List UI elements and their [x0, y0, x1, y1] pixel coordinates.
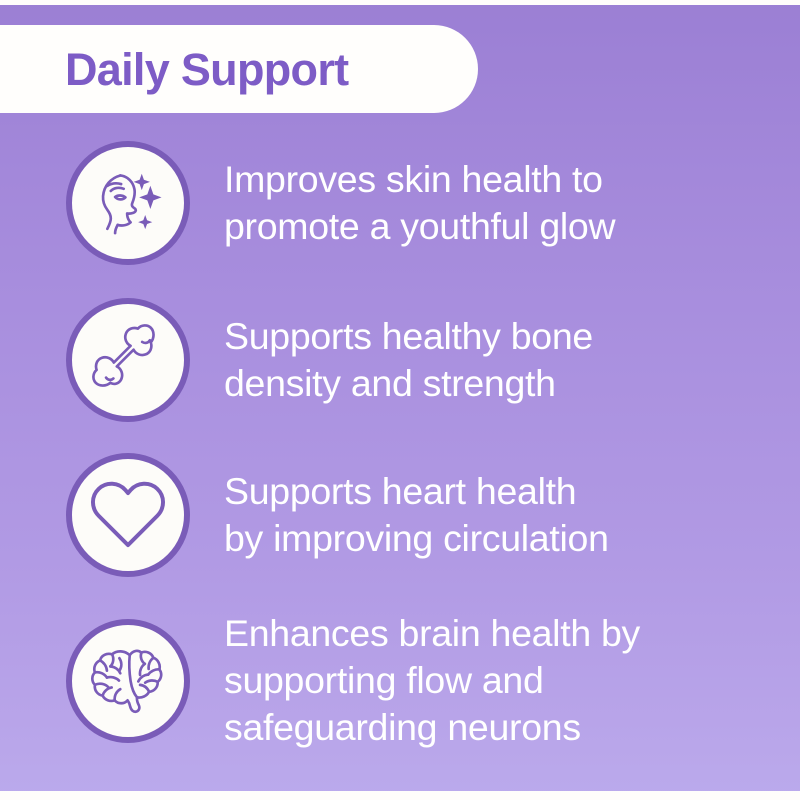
bottom-edge-strip: [0, 791, 800, 800]
benefit-item-heart-health: Supports heart health by improving circu…: [0, 453, 800, 577]
heart-icon-badge: [66, 453, 190, 577]
header-pill: Daily Support: [0, 25, 478, 113]
brain-icon: [85, 638, 171, 724]
brain-icon-badge: [66, 619, 190, 743]
benefit-item-skin-health: Improves skin health to promote a youthf…: [0, 141, 800, 265]
face-sparkle-icon: [85, 160, 171, 246]
benefit-item-brain-health: Enhances brain health by supporting flow…: [0, 610, 800, 751]
top-edge-strip: [0, 0, 800, 5]
benefit-text: Improves skin health to promote a youthf…: [224, 156, 615, 250]
page-title: Daily Support: [65, 47, 348, 92]
heart-icon: [85, 472, 171, 558]
face-sparkle-icon-badge: [66, 141, 190, 265]
daily-support-infographic: Daily Support: [0, 0, 800, 800]
bone-icon: [85, 317, 171, 403]
benefit-text: Supports healthy bone density and streng…: [224, 313, 593, 407]
bone-icon-badge: [66, 298, 190, 422]
benefit-text: Supports heart health by improving circu…: [224, 468, 609, 562]
benefit-text: Enhances brain health by supporting flow…: [224, 610, 640, 751]
benefit-item-bone-density: Supports healthy bone density and streng…: [0, 298, 800, 422]
